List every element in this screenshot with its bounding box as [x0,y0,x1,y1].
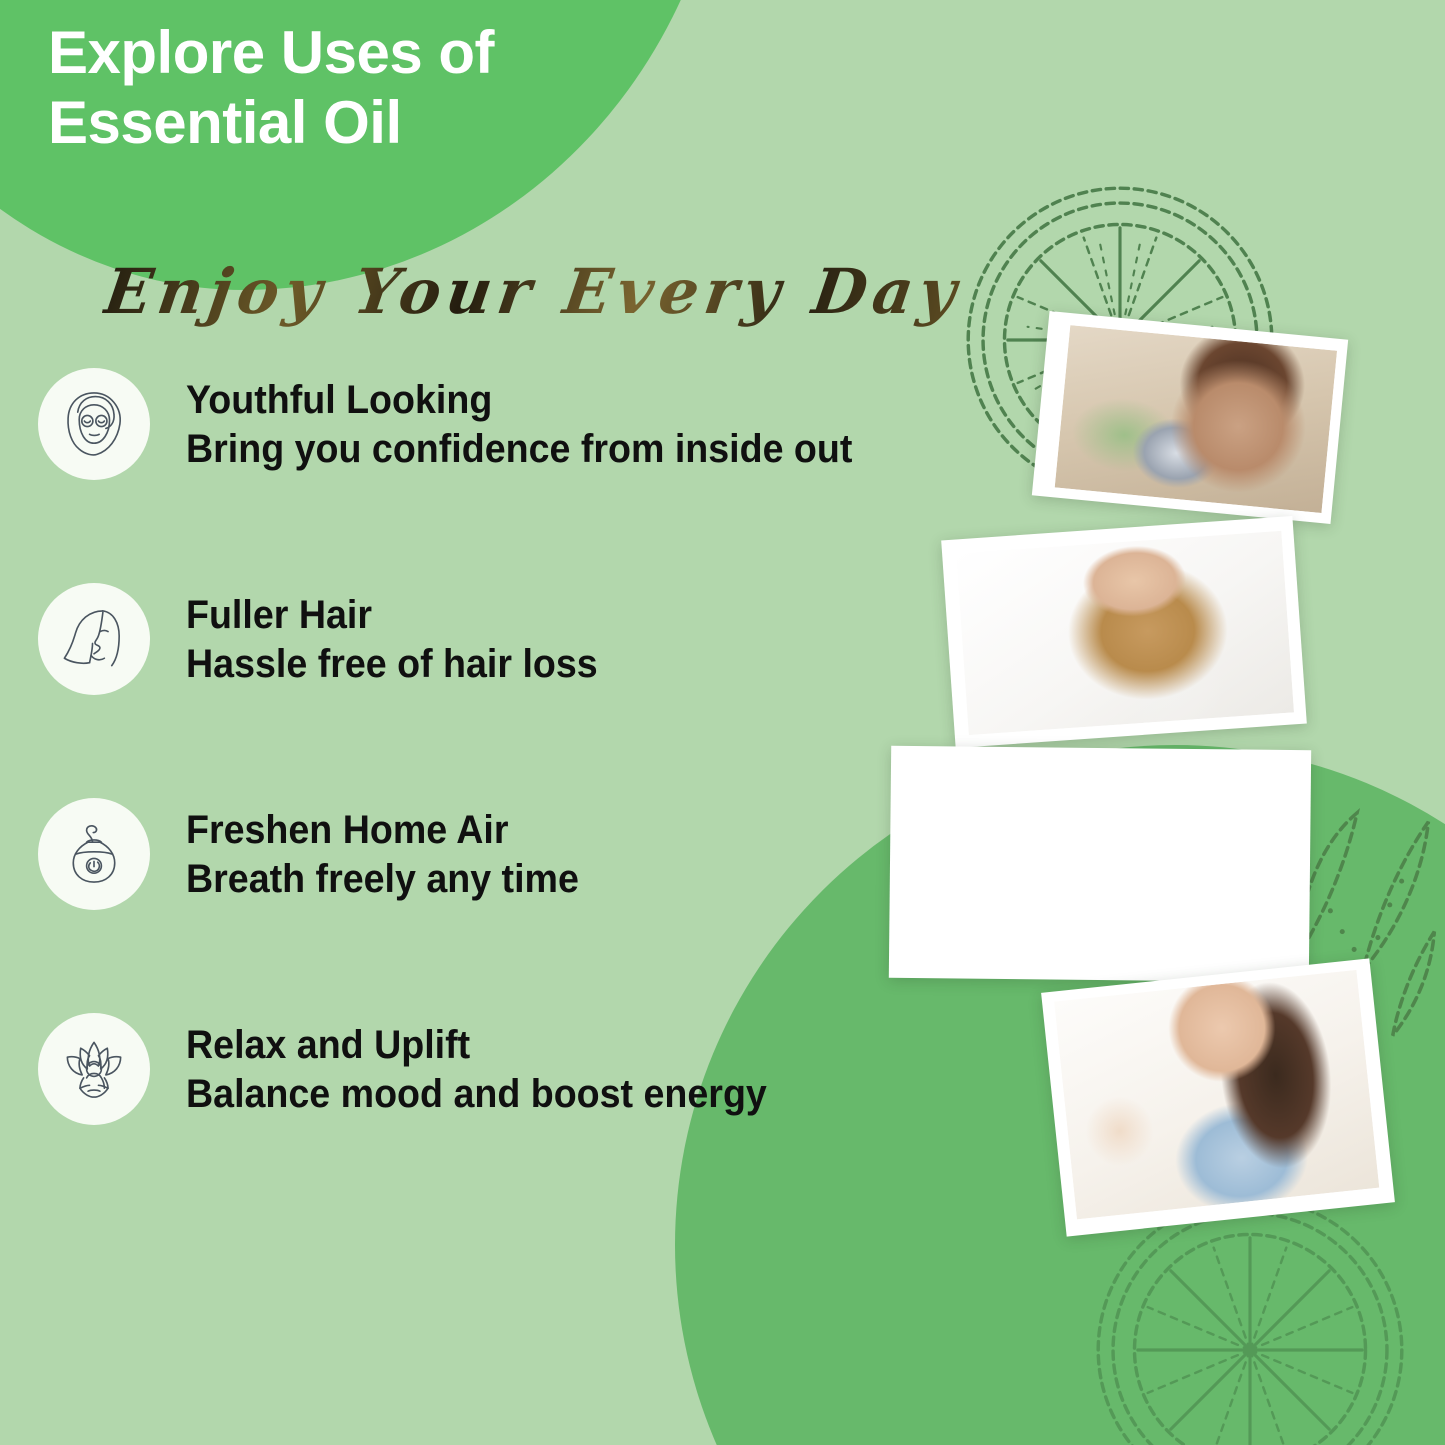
feature-text: Youthful Looking Bring you confidence fr… [186,378,895,472]
feature-title: Fuller Hair [186,593,598,638]
feature-item-fuller-hair: Fuller Hair Hassle free of hair loss [38,577,1018,792]
feature-item-relax-and-uplift: Relax and Uplift Balance mood and boost … [38,1007,1018,1222]
feature-subtitle: Breath freely any time [186,857,579,902]
poster: Explore Uses of Essential Oil Enjoy Your… [0,0,1445,1445]
tagline: Enjoy Your Every Day [100,255,967,328]
page-title: Explore Uses of Essential Oil [48,18,688,157]
feature-title: Freshen Home Air [186,808,579,853]
photo-image [1055,325,1337,513]
feature-item-youthful-looking: Youthful Looking Bring you confidence fr… [38,362,1018,577]
feature-item-freshen-home-air: Freshen Home Air Breath freely any time [38,792,1018,1007]
feature-subtitle: Bring you confidence from inside out [186,427,852,472]
feature-text: Fuller Hair Hassle free of hair loss [186,593,624,687]
lotus-meditation-icon [38,1013,150,1125]
feature-title: Relax and Uplift [186,1023,767,1068]
feature-text: Freshen Home Air Breath freely any time [186,808,604,902]
feature-title: Youthful Looking [186,378,852,423]
aroma-diffuser-icon [38,798,150,910]
face-mask-icon [38,368,150,480]
photo-smiling-woman [1032,311,1348,524]
feature-subtitle: Balance mood and boost energy [186,1072,767,1117]
hair-profile-icon [38,583,150,695]
photo-image [1054,970,1379,1220]
feature-subtitle: Hassle free of hair loss [186,642,598,687]
feature-list: Youthful Looking Bring you confidence fr… [38,362,1018,1222]
feature-text: Relax and Uplift Balance mood and boost … [186,1023,804,1117]
photo-applying-perfume [1041,958,1395,1236]
